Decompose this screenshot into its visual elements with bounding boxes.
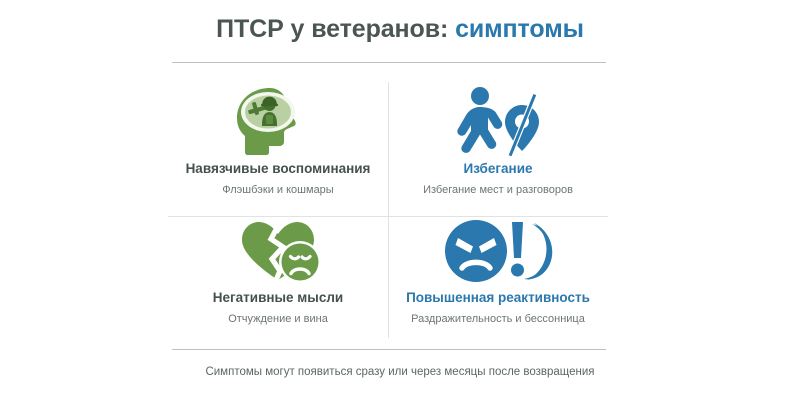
symptom-title: Избегание [463, 161, 532, 177]
symptom-cell-negative-thoughts[interactable]: Негативные мысли Отчуждение и вина [168, 209, 388, 340]
symptom-title: Навязчивые воспоминания [186, 161, 371, 177]
page-title-accent: симптомы [455, 15, 584, 43]
symptom-cell-avoidance[interactable]: Избегание Избегание мест и разговоров [388, 78, 608, 209]
symptom-subtitle: Раздражительность и бессонница [411, 313, 585, 326]
symptom-grid: Навязчивые воспоминания Флэшбэки и кошма… [168, 78, 608, 340]
head-soldier-icon [232, 84, 324, 158]
page-title: ПТСР у ветеранов: симптомы [0, 16, 800, 44]
symptom-subtitle: Избегание мест и разговоров [423, 184, 573, 197]
symptom-title: Негативные мысли [213, 290, 343, 306]
symptom-subtitle: Флэшбэки и кошмары [222, 184, 333, 197]
walking-person-no-location-icon [450, 84, 546, 158]
page-title-main: ПТСР у ветеранов: [216, 15, 448, 43]
ptsd-symptoms-infographic: ПТСР у ветеранов: симптомы [0, 0, 800, 400]
symptom-title: Повышенная реактивность [406, 290, 590, 306]
symptom-subtitle: Отчуждение и вина [228, 313, 328, 326]
footer-note: Симптомы могут появиться сразу или через… [0, 366, 800, 378]
footer-divider [172, 349, 606, 350]
symptom-cell-intrusive-memories[interactable]: Навязчивые воспоминания Флэшбэки и кошма… [168, 78, 388, 209]
angry-face-exclamation-moon-icon [442, 215, 554, 287]
title-divider [172, 62, 606, 63]
symptom-cell-hyperarousal[interactable]: Повышенная реактивность Раздражительност… [388, 209, 608, 340]
broken-heart-sad-face-icon [228, 215, 328, 287]
